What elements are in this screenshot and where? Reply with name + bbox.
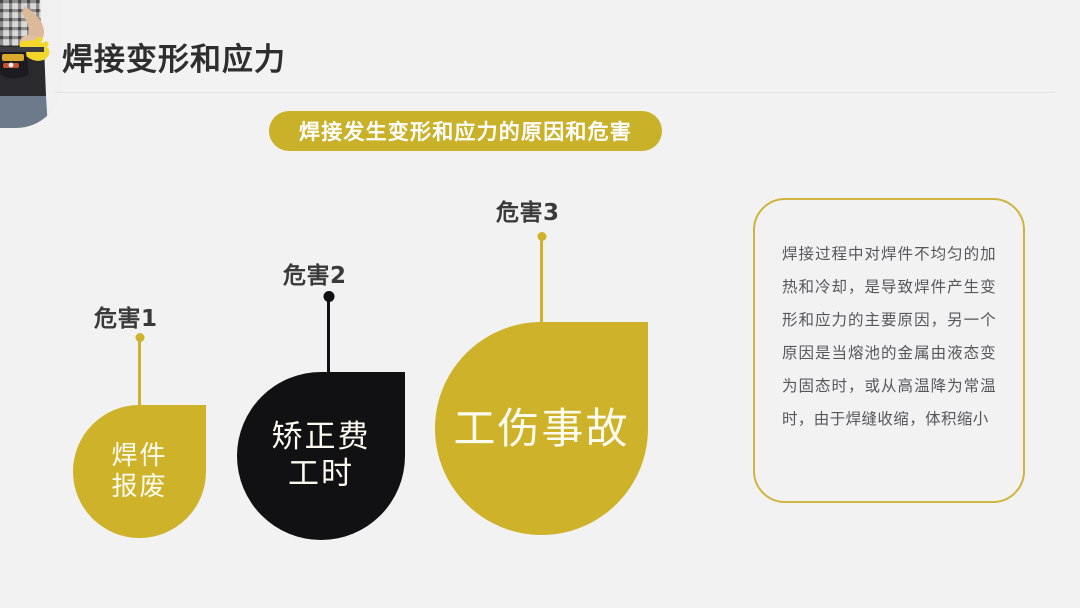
connector-dot-3 [537,232,546,241]
drop-text-2-line-2: 工时 [272,456,371,493]
description-text: 焊接过程中对焊件不均匀的加热和冷却，是导致焊件产生变形和应力的主要原因，另一个原… [782,238,996,436]
drop-shape-3[interactable]: 工伤事故 [435,322,648,535]
drop-text-1-line-1: 焊件 [111,441,167,472]
connector-stem-1 [138,337,141,409]
title-divider [55,92,1055,93]
subtitle-banner: 焊接发生变形和应力的原因和危害 [269,111,662,151]
connector-stem-3 [540,236,543,326]
connector-stem-2 [327,296,330,376]
drop-text-1: 焊件 报废 [111,441,167,502]
connector-dot-1 [135,333,144,342]
drop-text-3: 工伤事故 [453,404,629,454]
drop-text-2: 矫正费 工时 [272,419,371,492]
page-title: 焊接变形和应力 [62,38,286,82]
drop-text-1-line-2: 报废 [111,472,167,503]
hero-worker-photo [0,0,62,128]
step-caption-2: 危害2 [283,256,347,290]
description-card: 焊接过程中对焊件不均匀的加热和冷却，是导致焊件产生变形和应力的主要原因，另一个原… [753,198,1025,503]
drop-shape-1[interactable]: 焊件 报废 [73,405,206,538]
step-caption-3: 危害3 [496,193,560,227]
drop-shape-2[interactable]: 矫正费 工时 [237,372,405,540]
step-caption-1: 危害1 [94,299,158,333]
connector-dot-2 [323,291,334,302]
drop-text-3-line-1: 工伤事故 [453,404,629,454]
drop-text-2-line-1: 矫正费 [272,419,371,456]
